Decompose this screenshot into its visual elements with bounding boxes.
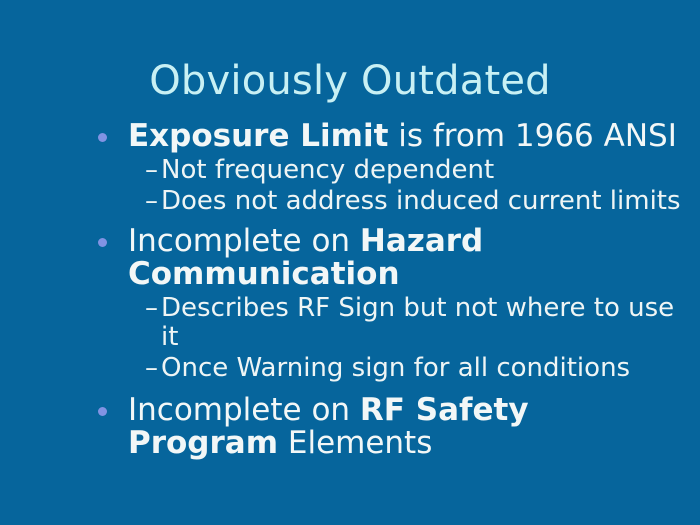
bullet-dot-icon	[98, 120, 128, 142]
slide-body-content: Exposure Limit is from 1966 ANSI – Not f…	[98, 120, 688, 461]
sub-bullet-text: Not frequency dependent	[161, 156, 688, 185]
presentation-slide: Obviously Outdated Exposure Limit is fro…	[0, 0, 700, 525]
bullet-suffix-span: Elements	[278, 425, 432, 461]
bullet-bold-span: Exposure Limit	[128, 118, 388, 154]
bullet-item-level2: – Describes RF Sign but not where to use…	[98, 294, 688, 352]
bullet-item-level1: Incomplete on Hazard Communication	[98, 225, 688, 291]
bullet-item-level2: – Does not address induced current limit…	[98, 187, 688, 216]
bullet-text: Incomplete on RF Safety Program Elements	[128, 394, 688, 460]
dash-marker-icon: –	[145, 354, 161, 383]
bullet-item-level2: – Once Warning sign for all conditions	[98, 354, 688, 383]
dash-marker-icon: –	[145, 294, 161, 323]
dash-marker-icon: –	[145, 187, 161, 216]
bullet-dot-icon	[98, 225, 128, 247]
sub-bullet-text: Once Warning sign for all conditions	[161, 354, 688, 383]
sub-bullet-group: – Not frequency dependent – Does not add…	[98, 156, 688, 216]
sub-bullet-text: Describes RF Sign but not where to use i…	[161, 294, 688, 352]
bullet-regular-span: is from 1966 ANSI	[388, 118, 676, 154]
bullet-regular-span: Incomplete on	[128, 223, 360, 259]
bullet-text: Incomplete on Hazard Communication	[128, 225, 688, 291]
bullet-regular-span: Incomplete on	[128, 392, 360, 428]
slide-title: Obviously Outdated	[0, 58, 700, 104]
bullet-dot-icon	[98, 394, 128, 416]
dash-marker-icon: –	[145, 156, 161, 185]
bullet-text: Exposure Limit is from 1966 ANSI	[128, 120, 688, 153]
bullet-item-level1: Exposure Limit is from 1966 ANSI	[98, 120, 688, 153]
sub-bullet-group: – Describes RF Sign but not where to use…	[98, 294, 688, 383]
sub-bullet-text: Does not address induced current limits	[161, 187, 688, 216]
bullet-item-level1: Incomplete on RF Safety Program Elements	[98, 394, 688, 460]
bullet-item-level2: – Not frequency dependent	[98, 156, 688, 185]
